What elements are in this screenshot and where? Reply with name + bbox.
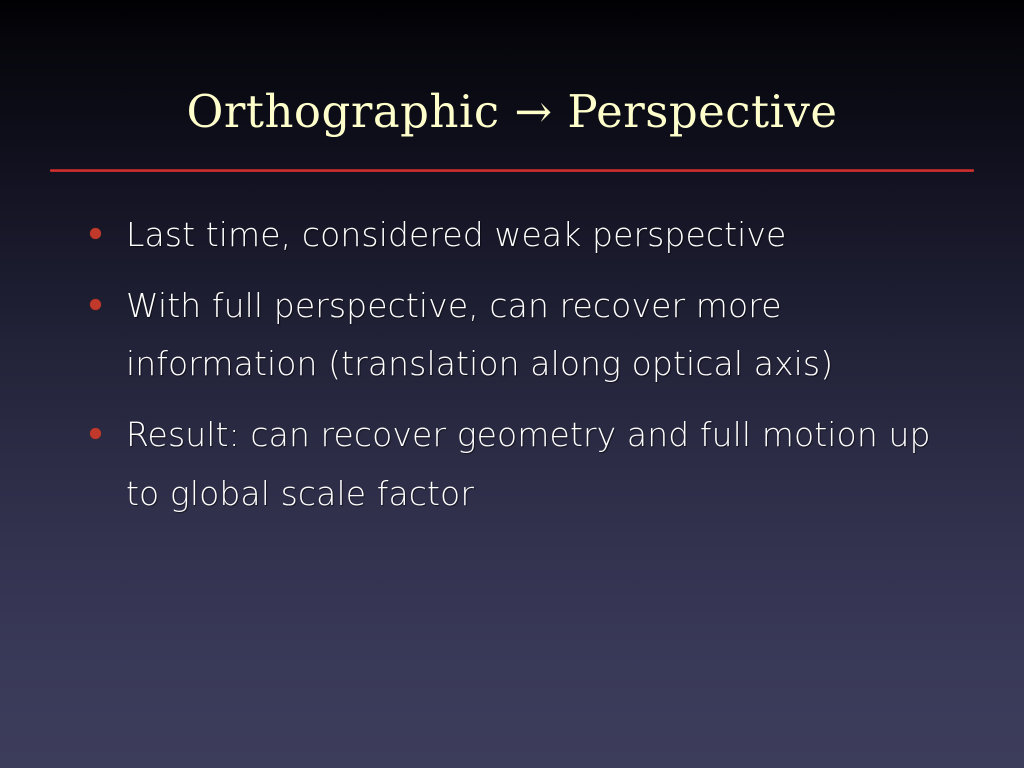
page-title: Orthographic → Perspective	[186, 88, 837, 135]
presentation-slide: Orthographic → Perspective Last time, co…	[0, 0, 1024, 768]
bullet-dot-icon	[90, 228, 101, 239]
slide-title-block: Orthographic → Perspective	[0, 58, 1024, 166]
list-item: Last time, considered weak perspective	[0, 206, 1024, 265]
bullet-dot-icon	[90, 428, 101, 439]
bullet-text: With full perspective, can recover more …	[126, 277, 964, 394]
bullet-list: Last time, considered weak perspective W…	[0, 206, 1024, 536]
list-item: With full perspective, can recover more …	[0, 277, 1024, 394]
bullet-dot-icon	[90, 299, 101, 310]
list-item: Result: can recover geometry and full mo…	[0, 406, 1024, 523]
bullet-text: Result: can recover geometry and full mo…	[126, 406, 964, 523]
title-divider-rule	[50, 169, 974, 172]
bullet-text: Last time, considered weak perspective	[126, 206, 964, 265]
